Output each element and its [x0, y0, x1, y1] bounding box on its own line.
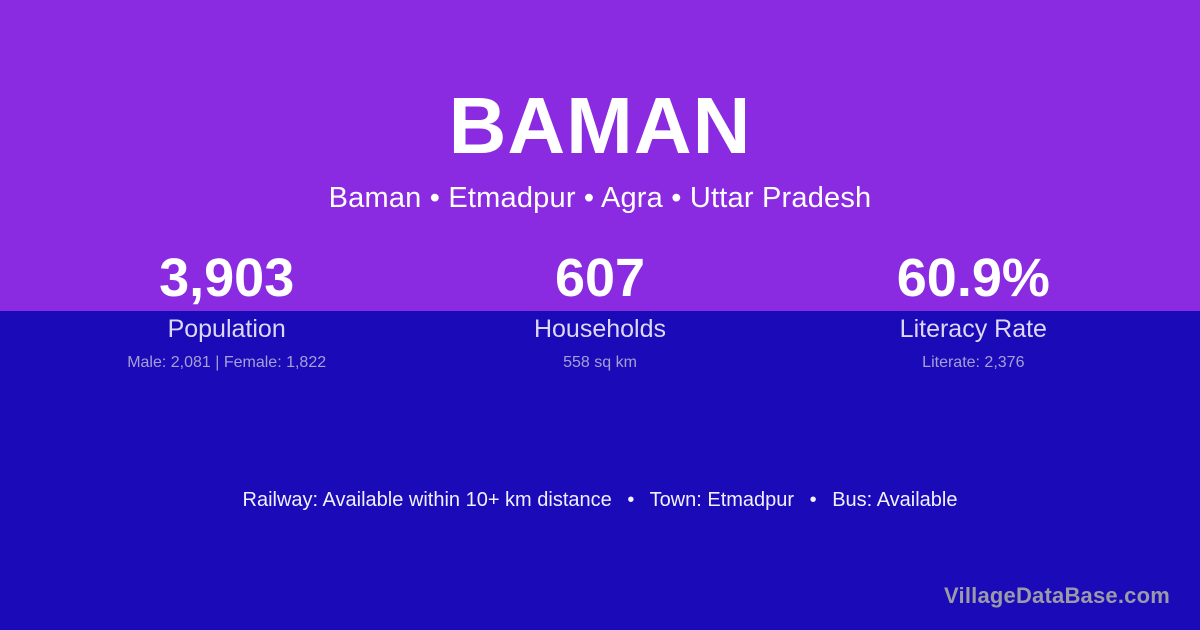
stat-label-households: Households [413, 314, 786, 344]
stat-sub-literacy-rate: Literate: 2,376 [787, 353, 1160, 373]
facility-bus: Bus: Available [832, 489, 957, 511]
stat-households: 607 Households 558 sq km [413, 246, 786, 373]
facility-separator-2: • [800, 487, 827, 513]
page-title: BAMAN [0, 0, 1200, 170]
facility-town: Town: Etmadpur [650, 489, 795, 511]
footer: VillageDataBase.com [944, 582, 1170, 610]
stat-sub-population: Male: 2,081 | Female: 1,822 [40, 353, 413, 373]
stat-literacy-rate: 60.9% Literacy Rate Literate: 2,376 [787, 246, 1160, 373]
site-watermark: VillageDataBase.com [944, 582, 1170, 610]
stat-value-literacy-rate: 60.9% [787, 246, 1160, 310]
stat-sub-households: 558 sq km [413, 353, 786, 373]
stats-row: 3,903 Population Male: 2,081 | Female: 1… [40, 246, 1160, 373]
facility-railway: Railway: Available within 10+ km distanc… [243, 489, 612, 511]
stat-label-literacy-rate: Literacy Rate [787, 314, 1160, 344]
stat-value-population: 3,903 [40, 246, 413, 310]
breadcrumb: Baman • Etmadpur • Agra • Uttar Pradesh [0, 170, 1200, 216]
village-info-card: BAMAN Baman • Etmadpur • Agra • Uttar Pr… [0, 0, 1200, 630]
facility-separator-1: • [617, 487, 644, 513]
stat-label-population: Population [40, 314, 413, 344]
facilities-line: Railway: Available within 10+ km distanc… [0, 487, 1200, 513]
stat-value-households: 607 [413, 246, 786, 310]
stat-population: 3,903 Population Male: 2,081 | Female: 1… [40, 246, 413, 373]
header: BAMAN Baman • Etmadpur • Agra • Uttar Pr… [0, 0, 1200, 216]
